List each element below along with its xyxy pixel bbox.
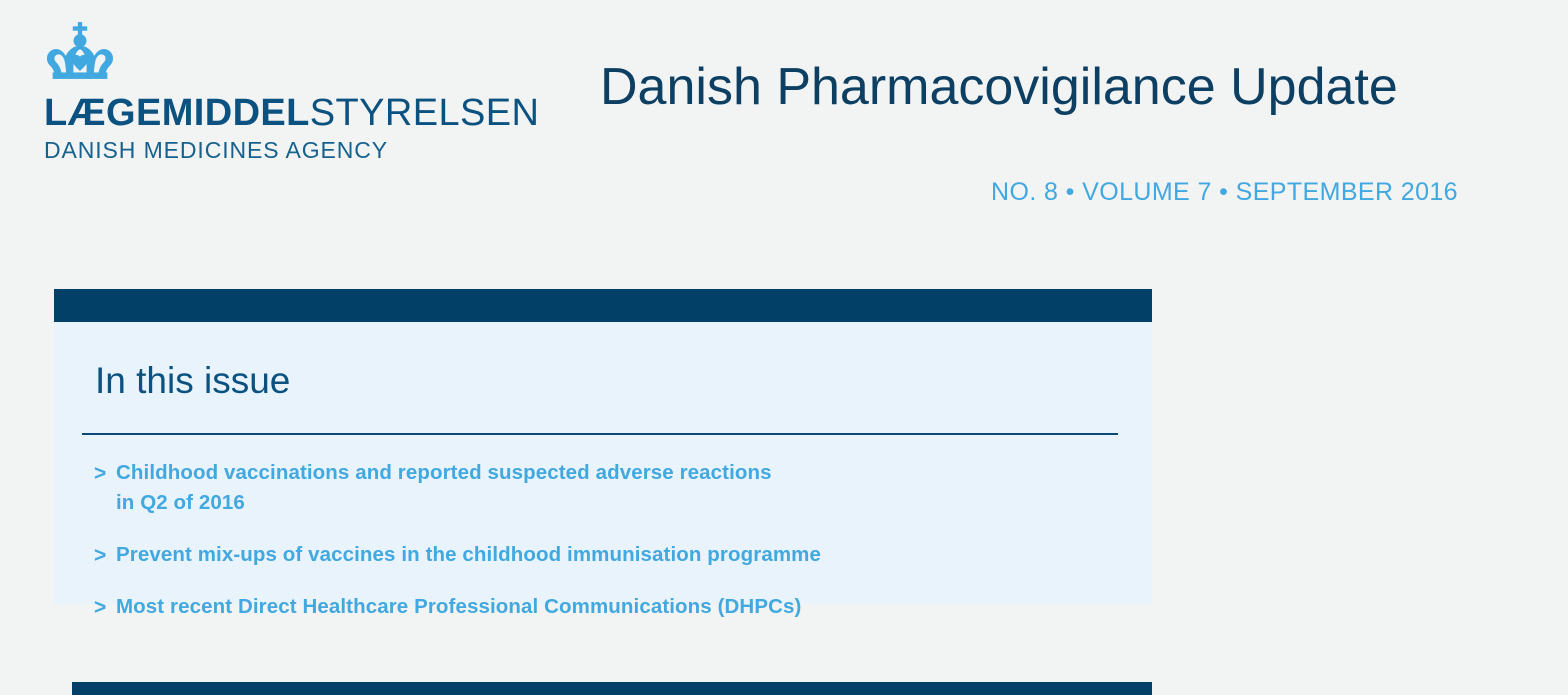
logo-subwordmark: DANISH MEDICINES AGENCY <box>44 139 544 162</box>
list-item[interactable]: > Prevent mix-ups of vaccines in the chi… <box>94 540 1124 571</box>
issue-contents-list: > Childhood vaccinations and reported su… <box>94 458 1124 623</box>
list-item[interactable]: > Childhood vaccinations and reported su… <box>94 458 1124 519</box>
panel-body: In this issue > Childhood vaccinations a… <box>54 322 1152 604</box>
list-item-label: Childhood vaccinations and reported susp… <box>116 458 1124 519</box>
panel-top-bar <box>54 289 1152 322</box>
logo-wordmark: LÆGEMIDDELSTYRELSEN <box>44 94 544 132</box>
danish-crown-icon <box>44 22 116 84</box>
panel-heading: In this issue <box>95 362 290 399</box>
logo-wordmark-light: STYRELSEN <box>310 92 540 134</box>
chevron-right-icon: > <box>94 458 116 489</box>
list-item[interactable]: > Most recent Direct Healthcare Professi… <box>94 592 1124 623</box>
issue-meta-line: NO. 8 • VOLUME 7 • SEPTEMBER 2016 <box>600 178 1458 207</box>
chevron-right-icon: > <box>94 540 116 571</box>
list-item-label: Most recent Direct Healthcare Profession… <box>116 592 1124 622</box>
page-title: Danish Pharmacovigilance Update <box>600 60 1500 115</box>
panel-divider <box>82 433 1118 435</box>
agency-logo: LÆGEMIDDELSTYRELSEN DANISH MEDICINES AGE… <box>44 22 544 162</box>
next-section-top-bar <box>72 682 1152 695</box>
in-this-issue-panel: In this issue > Childhood vaccinations a… <box>54 289 1152 604</box>
title-block: Danish Pharmacovigilance Update <box>600 60 1500 115</box>
list-item-label: Prevent mix-ups of vaccines in the child… <box>116 540 1124 570</box>
chevron-right-icon: > <box>94 592 116 623</box>
logo-wordmark-bold: LÆGEMIDDEL <box>44 92 310 134</box>
masthead: LÆGEMIDDELSTYRELSEN DANISH MEDICINES AGE… <box>0 0 1568 240</box>
